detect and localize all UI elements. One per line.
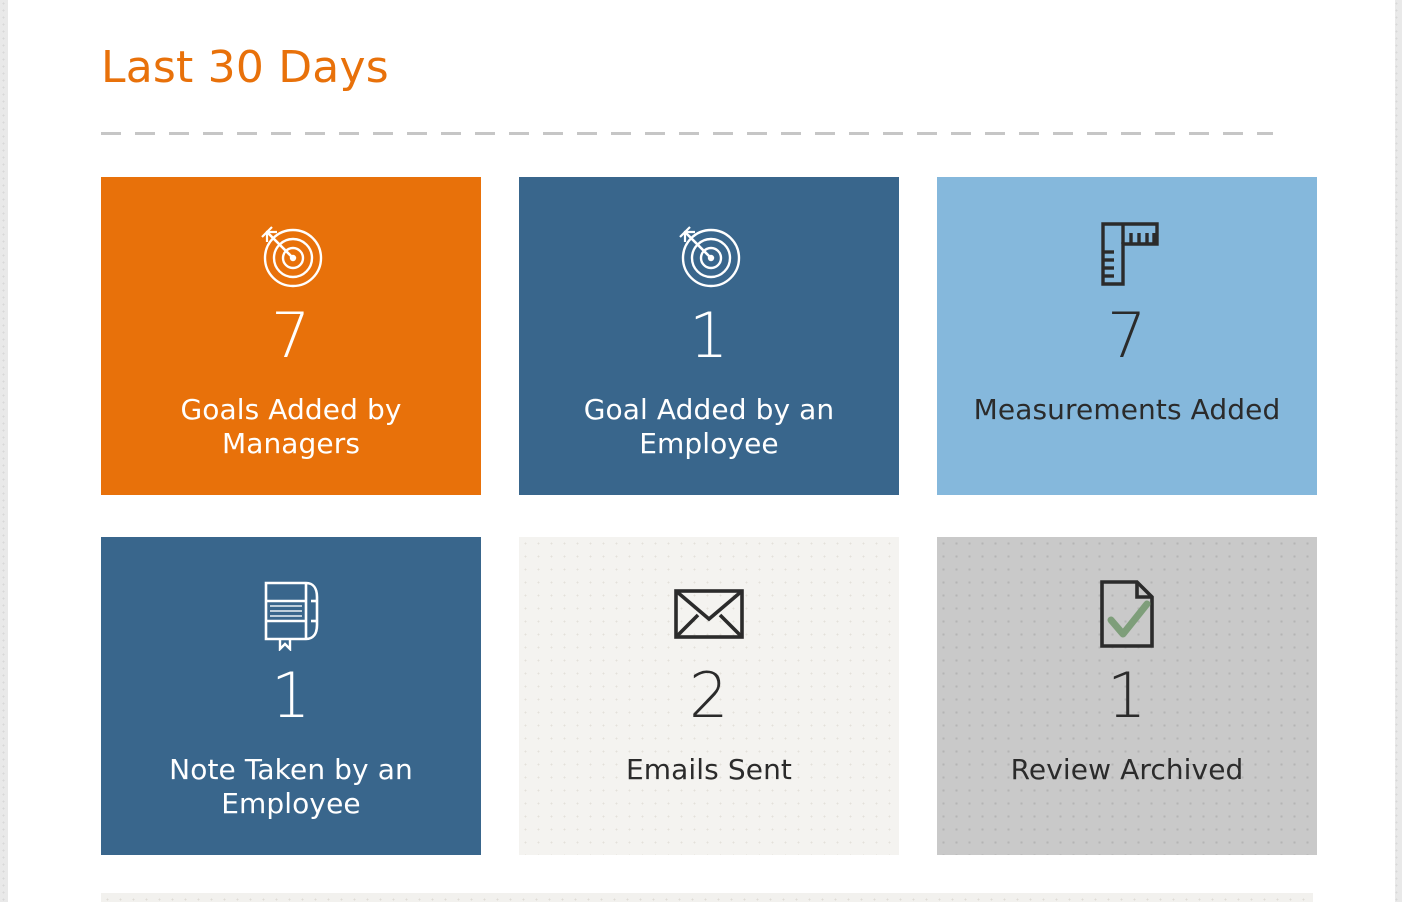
target-arrow-icon	[671, 209, 747, 299]
stat-label: Emails Sent	[626, 753, 792, 787]
page-title: Last 30 Days	[92, 0, 1322, 90]
stat-card-goals-added-by-managers[interactable]: 7 Goals Added by Managers	[101, 177, 481, 495]
stat-value: 2	[689, 665, 729, 727]
stat-card-review-archived[interactable]: 1 Review Archived	[937, 537, 1317, 855]
stat-label: Goal Added by an Employee	[544, 393, 874, 461]
stat-value: 1	[1107, 665, 1147, 727]
dashboard-panel: Last 30 Days 7 Goals Added	[8, 0, 1395, 902]
dashboard-content: Last 30 Days 7 Goals Added	[92, 0, 1322, 855]
stat-label: Goals Added by Managers	[126, 393, 456, 461]
stat-card-emails-sent[interactable]: 2 Emails Sent	[519, 537, 899, 855]
target-arrow-icon	[253, 209, 329, 299]
stat-value: 7	[1107, 305, 1147, 367]
stat-label: Note Taken by an Employee	[126, 753, 456, 821]
stat-card-note-taken-by-employee[interactable]: 1 Note Taken by an Employee	[101, 537, 481, 855]
section-divider	[101, 132, 1273, 135]
stat-card-grid: 7 Goals Added by Managers 1	[101, 177, 1277, 855]
envelope-icon	[671, 569, 747, 659]
document-check-icon	[1095, 569, 1159, 659]
notebook-icon	[258, 569, 324, 659]
ruler-square-icon	[1091, 209, 1163, 299]
stat-value: 7	[271, 305, 311, 367]
stat-value: 1	[689, 305, 729, 367]
stat-value: 1	[271, 665, 311, 727]
stat-label: Measurements Added	[974, 393, 1281, 427]
stat-label: Review Archived	[1011, 753, 1244, 787]
next-section-preview	[101, 893, 1313, 902]
stat-card-measurements-added[interactable]: 7 Measurements Added	[937, 177, 1317, 495]
stat-card-goal-added-by-employee[interactable]: 1 Goal Added by an Employee	[519, 177, 899, 495]
